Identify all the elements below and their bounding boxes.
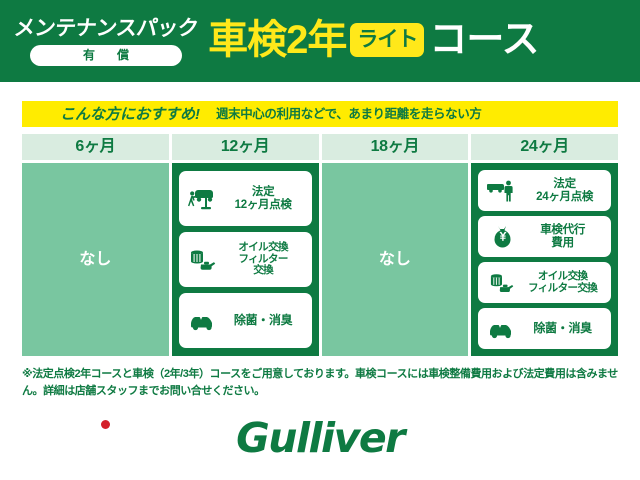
car-sparkle-icon — [484, 318, 520, 340]
service-card-oil-filter-change-12: オイル交換 フィルター 交換 — [179, 232, 312, 287]
brand-logo-dot — [101, 420, 110, 429]
service-card-inspection-agency-fee: 車検代行 費用 — [478, 216, 611, 257]
service-card-label: オイル交換 フィルター 交換 — [221, 242, 306, 277]
service-card-legal-24-month-inspection: 法定 24ヶ月点検 — [478, 170, 611, 211]
headline-light-badge: ライト — [350, 23, 424, 57]
money-bag-yen-icon — [484, 224, 520, 250]
brand-logo-text: Gulliver — [236, 418, 404, 459]
column-body-18-months: なし — [322, 163, 469, 356]
headline-main: 車検2年 — [208, 20, 346, 60]
column-body-12-months: 法定 12ヶ月点検 — [172, 163, 319, 356]
column-header-24-months: 24ヶ月 — [471, 134, 618, 160]
service-card-label: オイル交換 フィルター交換 — [520, 271, 605, 295]
none-label-18-months: なし — [379, 252, 411, 268]
service-card-label: 法定 12ヶ月点検 — [221, 186, 306, 212]
service-schedule-table: 6ヶ月 なし 12ヶ月 — [22, 134, 618, 356]
oil-filter-can-icon — [484, 271, 520, 295]
column-header-6-months: 6ヶ月 — [22, 134, 169, 160]
column-18-months: 18ヶ月 なし — [322, 134, 469, 356]
service-card-label: 除菌・消臭 — [520, 322, 605, 335]
service-card-sanitize-deodorize-12: 除菌・消臭 — [179, 293, 312, 348]
footnote-text: ※法定点検2年コースと車検（2年/3年）コースをご用意しております。車検コースに… — [22, 366, 622, 399]
column-6-months: 6ヶ月 なし — [22, 134, 169, 356]
column-12-months: 12ヶ月 — [172, 134, 319, 356]
column-header-18-months: 18ヶ月 — [322, 134, 469, 160]
service-card-legal-12-month-inspection: 法定 12ヶ月点検 — [179, 171, 312, 226]
service-card-label: 車検代行 費用 — [520, 224, 605, 250]
service-card-label: 除菌・消臭 — [221, 314, 306, 327]
pack-paid-badge: 有 償 — [30, 45, 182, 66]
headline-course-suffix: コース — [429, 21, 538, 59]
column-body-6-months: なし — [22, 163, 169, 356]
recommendation-banner: こんな方におすすめ! 週末中心の利用などで、あまり距離を走らない方 — [22, 101, 618, 127]
header-banner: メンテナンスパック 有 償 車検2年 ライト コース — [0, 0, 640, 82]
recommendation-heading: こんな方におすすめ! — [60, 107, 200, 122]
service-card-oil-filter-change-24: オイル交換 フィルター交換 — [478, 262, 611, 303]
brand-logo: Gulliver — [0, 418, 640, 459]
car-sparkle-icon — [185, 310, 221, 332]
oil-filter-can-icon — [185, 247, 221, 273]
pack-title-group: メンテナンスパック 有 償 — [14, 16, 198, 66]
pack-title: メンテナンスパック — [13, 18, 200, 39]
service-card-label: 法定 24ヶ月点検 — [524, 178, 605, 204]
column-header-12-months: 12ヶ月 — [172, 134, 319, 160]
column-24-months: 24ヶ月 法定 24 — [471, 134, 618, 356]
car-lift-inspection-icon — [185, 186, 221, 212]
none-label-6-months: なし — [79, 252, 111, 268]
recommendation-description: 週末中心の利用などで、あまり距離を走らない方 — [216, 108, 481, 121]
service-card-sanitize-deodorize-24: 除菌・消臭 — [478, 308, 611, 349]
column-body-24-months: 法定 24ヶ月点検 車検代行 費用 — [471, 163, 618, 356]
car-inspector-icon — [484, 179, 524, 203]
headline-group: 車検2年 ライト コース — [208, 20, 640, 62]
maintenance-pack-advertisement: メンテナンスパック 有 償 車検2年 ライト コース こんな方におすすめ! 週末… — [0, 0, 640, 480]
